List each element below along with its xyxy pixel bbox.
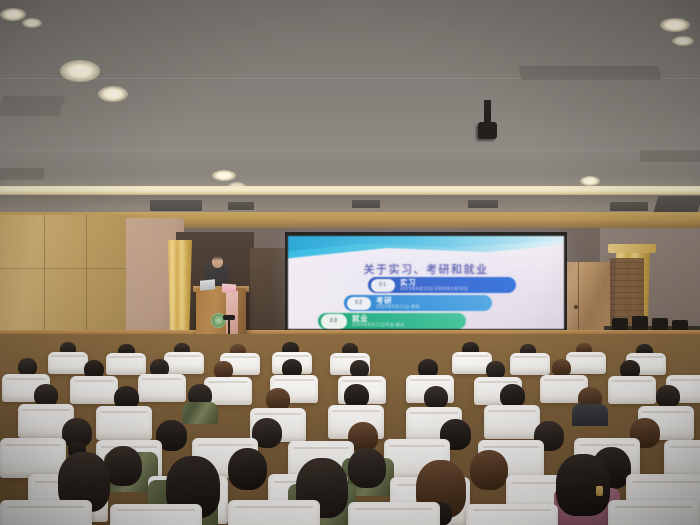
audience-chair [48,352,88,374]
air-vent [228,202,254,210]
audience-chair [228,500,320,525]
ceiling-seam [0,150,700,151]
ceiling-downlight [580,176,600,186]
audience-head [656,385,680,408]
audience-chair [466,504,558,525]
door-handle-icon[interactable] [574,305,578,309]
ceiling-downlight [60,60,100,82]
audience-area [0,334,700,525]
curtain-valance [608,244,656,253]
ceiling-downlight [672,36,694,46]
audience-head [424,386,448,409]
projector-icon [478,122,497,139]
audience-chair [484,405,540,439]
air-vent [610,202,648,211]
presenter-notes [222,284,236,294]
ceiling-vent-panel [0,168,44,180]
audience-chair [164,352,204,374]
audience-chair [110,504,202,525]
audience-chair [348,502,440,525]
ceiling-vent-panel [519,66,661,80]
slide-item-subtitle: 2025年6月11日-2026年1月10日 [400,287,468,291]
slide-item-text: 实习 2025年6月11日-2026年1月10日 [400,279,468,292]
audience-person-body [182,402,218,424]
ceiling-vent-panel [640,150,700,162]
audience-chair [510,353,550,375]
slide-item-number: 03 [321,314,347,329]
presenter-laptop [200,279,215,291]
hair-clip-icon [596,486,603,496]
ceiling-downlight [212,170,236,181]
panel-seam [0,268,132,269]
slide-item-text: 考研 2025年9月11日-考研 [376,297,420,310]
audience-head [470,450,508,490]
slide-item-text: 就业 2026年6月11日毕业-就业 [352,315,404,328]
audience-chair [608,500,700,525]
speaker-head [212,256,223,268]
audience-chair [0,438,66,478]
audience-chair [566,352,606,374]
audience-chair [138,374,186,402]
lecture-hall-photo: 关于实习、考研和就业 01 实习 2025年6月11日-2026年1月10日 0… [0,0,700,525]
air-vent [150,200,202,211]
audience-head [556,454,610,516]
audience-chair [106,353,146,375]
ceiling-downlight [660,18,690,32]
slide-item-01: 01 实习 2025年6月11日-2026年1月10日 [368,277,516,293]
slide-item-subtitle: 2025年9月11日-考研 [376,305,420,309]
audience-chair [608,376,656,404]
slide-item-03: 03 就业 2026年6月11日毕业-就业 [318,313,466,329]
slide-item-subtitle: 2026年6月11日毕业-就业 [352,323,404,327]
air-vent [352,200,380,208]
slide-item-number: 02 [347,297,371,310]
audience-chair [0,500,92,525]
ceiling-downlight [98,86,128,102]
audience-person-body [572,404,608,426]
ceiling-vent-panel [0,96,65,116]
ceiling-downlight [0,8,26,21]
projection-screen: 关于实习、考研和就业 01 实习 2025年6月11日-2026年1月10日 0… [288,236,564,329]
air-vent [468,200,498,208]
slide-item-number: 01 [371,279,395,292]
audience-head [228,448,267,490]
audience-chair [96,406,152,440]
audience-head [348,448,386,488]
air-vent [654,196,700,212]
audience-chair [70,376,118,404]
slide-item-02: 02 考研 2025年9月11日-考研 [344,295,492,311]
slide-title: 关于实习、考研和就业 [288,261,564,277]
ceiling-downlight [22,18,42,28]
cove-light-strip [0,186,700,195]
